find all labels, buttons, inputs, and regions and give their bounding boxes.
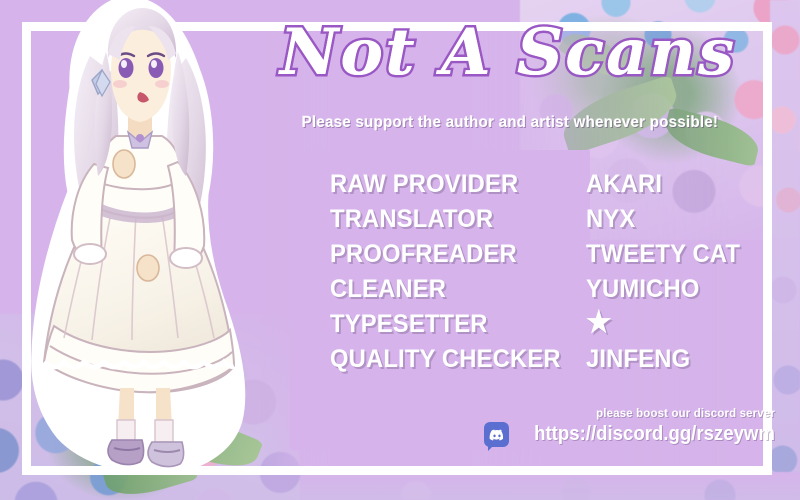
credit-row: QUALITY CHECKER JINFENG bbox=[330, 345, 770, 380]
credit-row: TYPESETTER ★ bbox=[330, 310, 770, 345]
credit-row: CLEANER YUMICHO bbox=[330, 275, 770, 310]
page-title: Not A Scans bbox=[262, 16, 754, 90]
credit-role: RAW PROVIDER bbox=[330, 170, 573, 199]
credit-name: TWEETY CAT bbox=[586, 240, 740, 269]
credit-name: YUMICHO bbox=[586, 275, 699, 304]
star-icon: ★ bbox=[586, 310, 612, 335]
credit-row: TRANSLATOR NYX bbox=[330, 205, 770, 240]
credits-page: Not A Scans Not A Scans Please support t… bbox=[0, 0, 800, 500]
credit-role: PROOFREADER bbox=[330, 240, 573, 269]
credit-role: TYPESETTER bbox=[330, 310, 573, 339]
credit-role: TRANSLATOR bbox=[330, 205, 573, 234]
discord-link[interactable]: https://discord.gg/rszeywm bbox=[505, 422, 775, 447]
credit-name: NYX bbox=[586, 205, 635, 234]
credits-list: RAW PROVIDER AKARI TRANSLATOR NYX PROOFR… bbox=[330, 170, 770, 380]
credit-row: RAW PROVIDER AKARI bbox=[330, 170, 770, 205]
support-note: Please support the author and artist whe… bbox=[256, 114, 764, 132]
credit-role: QUALITY CHECKER bbox=[330, 345, 573, 374]
credit-name: JINFENG bbox=[586, 345, 690, 374]
credit-role: CLEANER bbox=[330, 275, 573, 304]
credit-name: AKARI bbox=[586, 170, 662, 199]
credit-row: PROOFREADER TWEETY CAT bbox=[330, 240, 770, 275]
discord-note: please boost our discord server bbox=[519, 406, 776, 420]
discord-block: please boost our discord server https://… bbox=[505, 406, 775, 447]
discord-url[interactable]: https://discord.gg/rszeywm bbox=[534, 423, 775, 446]
discord-icon bbox=[484, 422, 509, 447]
